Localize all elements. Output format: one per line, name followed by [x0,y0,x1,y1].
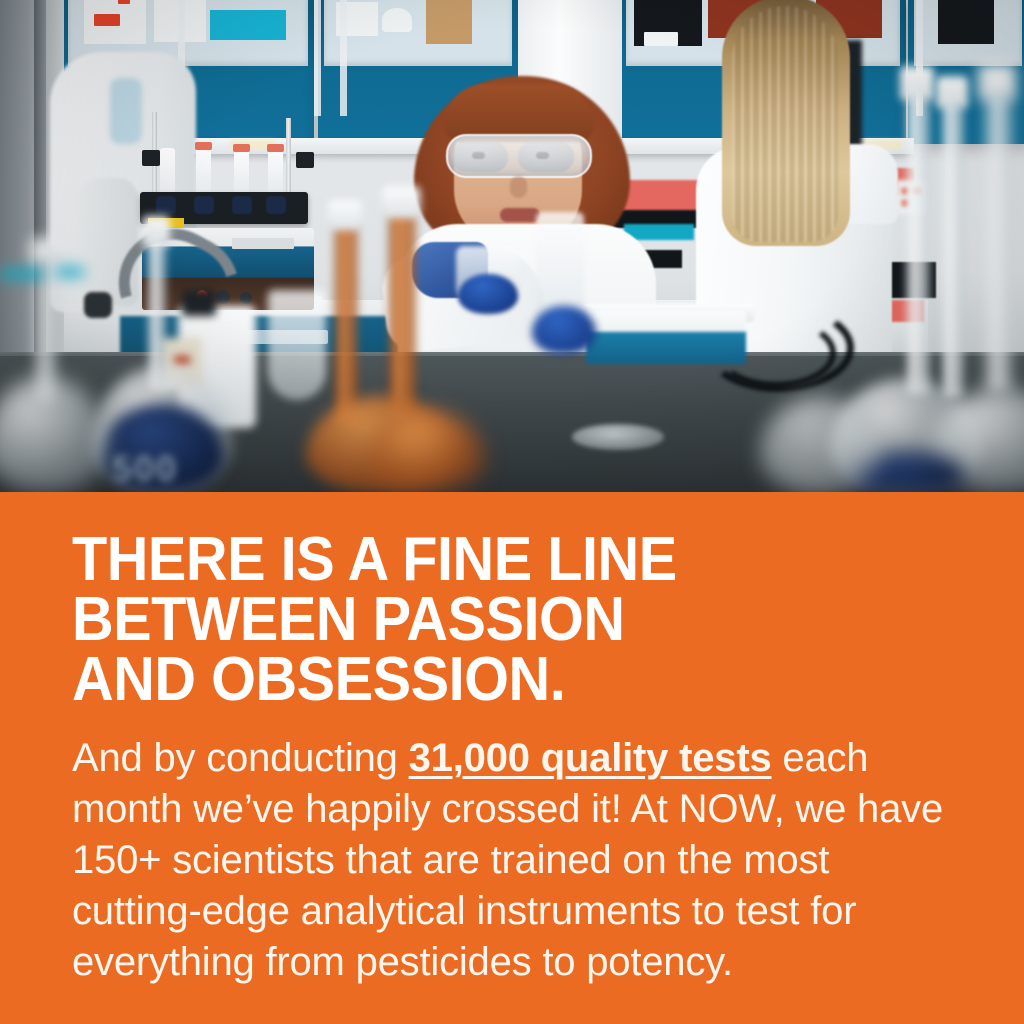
support-rod [286,118,291,198]
hair-strands [732,6,838,242]
rack-slot [266,196,286,214]
rack-slot [156,196,176,214]
flask-neck [906,94,930,394]
flask-neck [986,92,1012,392]
coiled-cable [716,318,836,388]
mouth [500,208,540,222]
analyzer-display [232,238,294,249]
rack-slot [232,196,252,214]
cabinet-mullion [340,0,347,116]
rod-clamp [142,150,160,166]
sample-tube [196,144,211,192]
body-copy: And by conducting 31,000 quality tests e… [72,733,952,988]
tube-cap [233,144,250,152]
sample-tube [268,146,283,194]
flask-neck [942,102,964,398]
scientist-left-hand [84,292,112,318]
sample-tube [234,146,249,194]
cardboard-box [426,0,472,44]
flask-tape-teal [56,266,84,278]
page-title: THERE IS A FINE LINE BETWEEN PASSION AND… [72,530,909,710]
rack-slot [194,196,214,214]
amber-flask-neck [388,212,416,420]
coat-detail [110,78,142,144]
amber-flask-stopper [328,200,362,230]
erlenmeyer-flask [268,290,326,400]
amber-flask-stopper [382,186,420,218]
blue-liquid [458,274,518,314]
nose [510,176,527,198]
bottle-cap [182,290,216,316]
petri-dish [572,424,664,450]
red-label [94,14,120,26]
rod-clamp [296,152,314,168]
highlighted-stat: 31,000 quality tests [409,736,772,780]
body-text-before: And by conducting [72,736,409,780]
sample-tube [160,148,175,196]
bottle [382,8,412,32]
blue-liquid [532,306,596,354]
amber-flask-neck [334,224,358,424]
dark-shelf-slot [938,0,994,44]
shelf-box [644,32,678,46]
flask-tape-teal [0,268,44,280]
teal-liquid-box [210,10,286,40]
outlet-indicator [174,356,190,364]
red-label [118,0,130,4]
analyzer-knob[interactable] [240,292,252,304]
scientist-right [690,0,900,356]
cabinet-mullion [314,0,321,116]
safety-goggles [446,134,592,178]
laboratory-photo: 500 [0,0,1024,492]
flask-500-label: 500 [112,448,178,490]
tube-cap [195,142,212,150]
tube-cap [267,144,284,152]
promotional-poster: 500 THERE IS A FINE LINE BETWEEN [0,0,1024,1024]
